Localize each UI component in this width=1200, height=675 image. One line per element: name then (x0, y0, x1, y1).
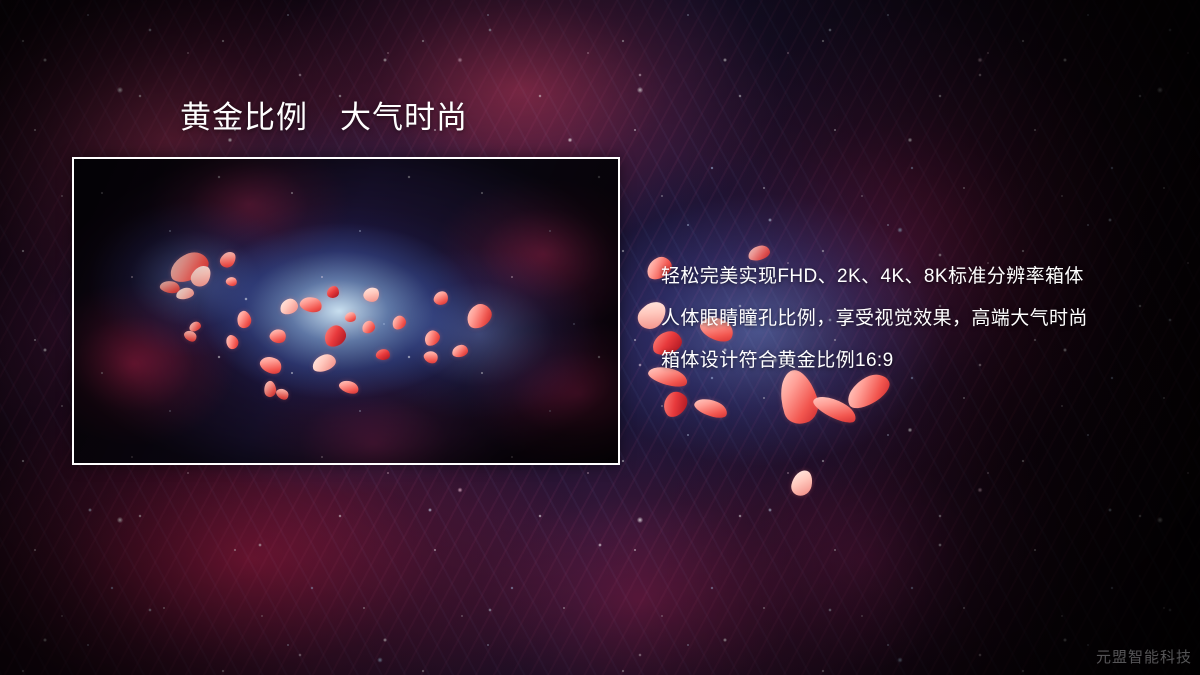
page-title: 黄金比例 大气时尚 (180, 99, 468, 138)
framed-image-panel (72, 157, 620, 465)
inset-vignette (74, 159, 618, 463)
feature-line: 轻松完美实现FHD、2K、4K、8K标准分辨率箱体 (661, 256, 1171, 298)
feature-line: 箱体设计符合黄金比例16:9 (661, 340, 1171, 382)
slide-canvas: 黄金比例 大气时尚 (0, 0, 1200, 675)
feature-text-block: 轻松完美实现FHD、2K、4K、8K标准分辨率箱体 人体眼睛瞳孔比例，享受视觉效… (661, 256, 1171, 382)
watermark-label: 元盟智能科技 (1096, 646, 1192, 667)
feature-line: 人体眼睛瞳孔比例，享受视觉效果，高端大气时尚 (661, 298, 1171, 340)
